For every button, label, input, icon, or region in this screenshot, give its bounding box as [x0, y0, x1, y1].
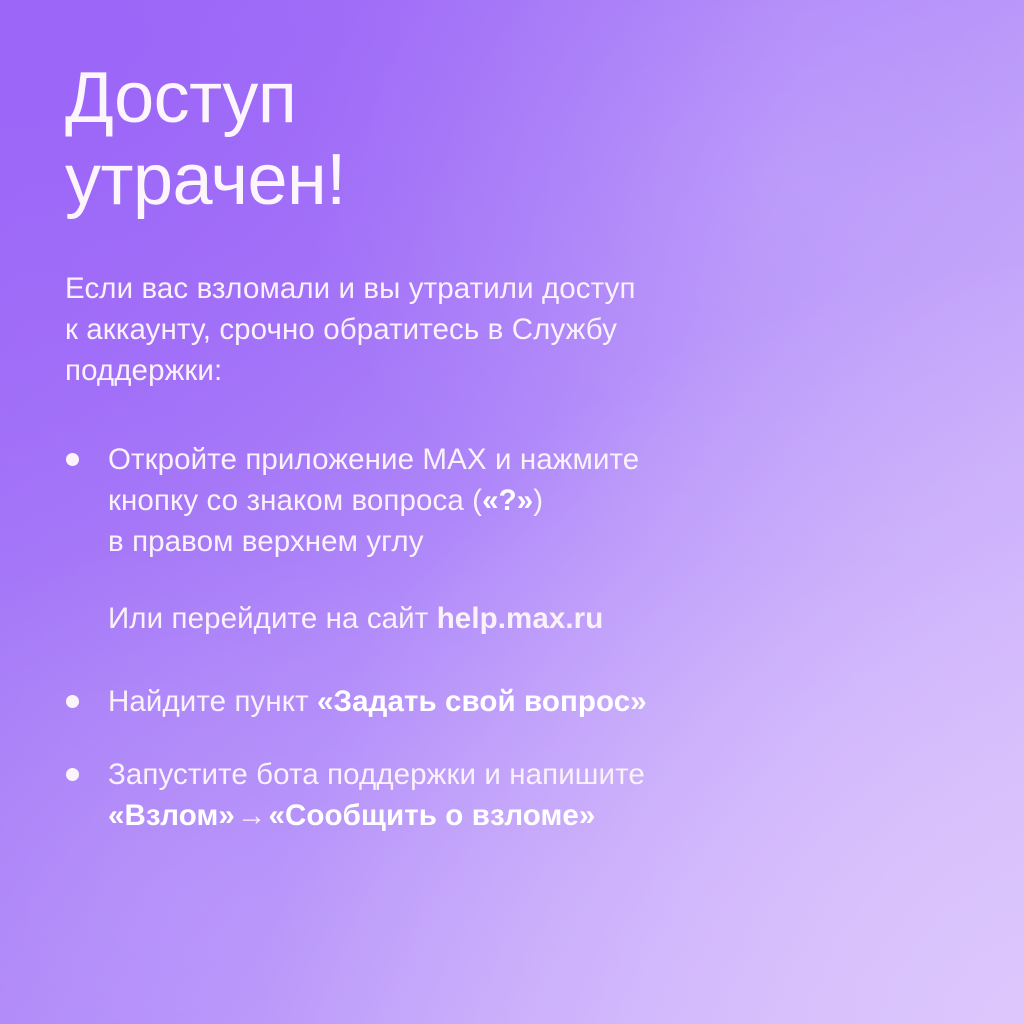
step-3-line-1: Запустите бота поддержки и напишите: [108, 754, 805, 795]
step-1-line-2: кнопку со знаком вопроса («?»): [108, 480, 805, 521]
info-card: Доступ утрачен! Если вас взломали и вы у…: [0, 0, 1024, 1024]
step-1-line-1: Откройте приложение MAX и нажмите: [108, 439, 805, 480]
hack-command-label: «Взлом»: [108, 799, 235, 832]
intro-line-3: поддержки:: [65, 350, 765, 391]
step-2-prefix: Найдите пункт: [108, 685, 317, 718]
list-item: Запустите бота поддержки и напишите «Взл…: [65, 754, 805, 836]
step-1-line-3: в правом верхнем углу: [108, 521, 805, 562]
page-title: Доступ утрачен!: [65, 57, 785, 221]
website-note: Или перейдите на сайт help.max.ru: [65, 598, 805, 639]
intro-line-2: к аккаунту, срочно обратитесь в Службу: [65, 309, 765, 350]
bullet-dot-icon: [66, 453, 79, 466]
page-title-line-2: утрачен!: [65, 139, 785, 221]
bullet-dot-icon: [66, 768, 79, 781]
ask-question-menu-label: «Задать свой вопрос»: [317, 685, 647, 718]
page-title-line-1: Доступ: [65, 57, 785, 139]
bullet-dot-icon: [66, 695, 79, 708]
website-note-prefix: Или перейдите на сайт: [108, 602, 437, 635]
report-hack-command-label: «Сообщить о взломе»: [269, 799, 596, 832]
step-1-line-2-prefix: кнопку со знаком вопроса (: [108, 484, 482, 517]
content-column: Доступ утрачен! Если вас взломали и вы у…: [65, 0, 965, 1024]
arrow-right-icon: →: [235, 799, 269, 832]
intro-paragraph: Если вас взломали и вы утратили доступ к…: [65, 268, 765, 391]
intro-line-1: Если вас взломали и вы утратили доступ: [65, 268, 765, 309]
list-item: Откройте приложение MAX и нажмите кнопку…: [65, 439, 805, 562]
step-1-line-2-suffix: ): [533, 484, 543, 517]
help-site-link[interactable]: help.max.ru: [437, 602, 604, 635]
steps-list: Откройте приложение MAX и нажмите кнопку…: [65, 439, 805, 836]
step-1-question-mark-label: «?»: [482, 484, 533, 517]
step-3-line-2: «Взлом»→«Сообщить о взломе»: [108, 795, 805, 836]
step-2-line-1: Найдите пункт «Задать свой вопрос»: [108, 681, 805, 722]
list-item: Найдите пункт «Задать свой вопрос»: [65, 681, 805, 722]
